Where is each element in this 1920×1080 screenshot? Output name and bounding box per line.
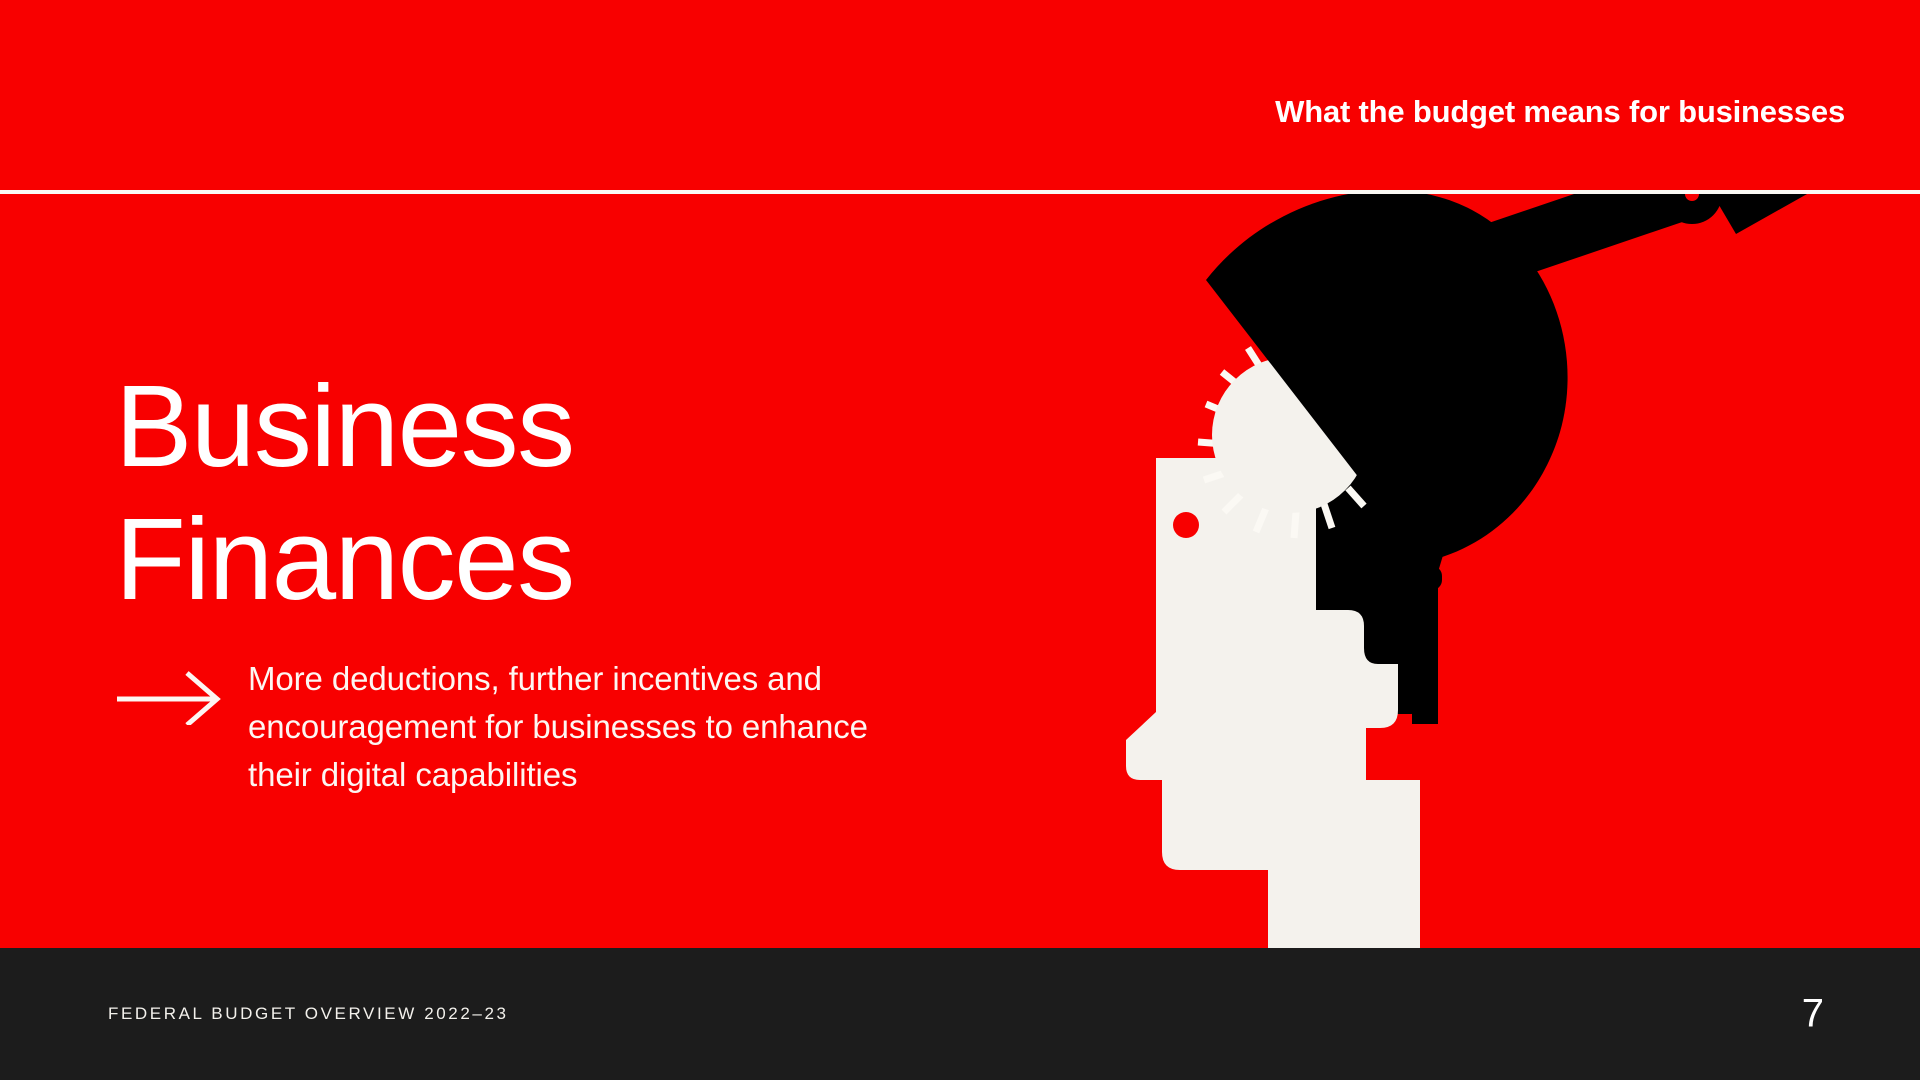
desk-lamp-head-illustration — [1120, 180, 1920, 948]
title-line-1: Business — [115, 360, 574, 493]
header-title: What the budget means for businesses — [1275, 94, 1845, 130]
header-divider-rule — [0, 190, 1920, 194]
slide-canvas: What the budget means for businesses Bus… — [0, 0, 1920, 1080]
page-number: 7 — [1802, 992, 1824, 1037]
header-band: What the budget means for businesses — [0, 0, 1920, 192]
title-line-2: Finances — [115, 493, 574, 626]
body-row: More deductions, further incentives and … — [115, 655, 888, 799]
arrow-right-icon — [115, 669, 227, 725]
footer-label: FEDERAL BUDGET OVERVIEW 2022–23 — [108, 1004, 509, 1024]
lamp-arm — [1452, 180, 1910, 288]
page-title: Business Finances — [115, 360, 574, 626]
eye-dot — [1173, 512, 1199, 538]
body-paragraph: More deductions, further incentives and … — [248, 655, 888, 799]
footer-bar: FEDERAL BUDGET OVERVIEW 2022–23 7 — [0, 948, 1920, 1080]
